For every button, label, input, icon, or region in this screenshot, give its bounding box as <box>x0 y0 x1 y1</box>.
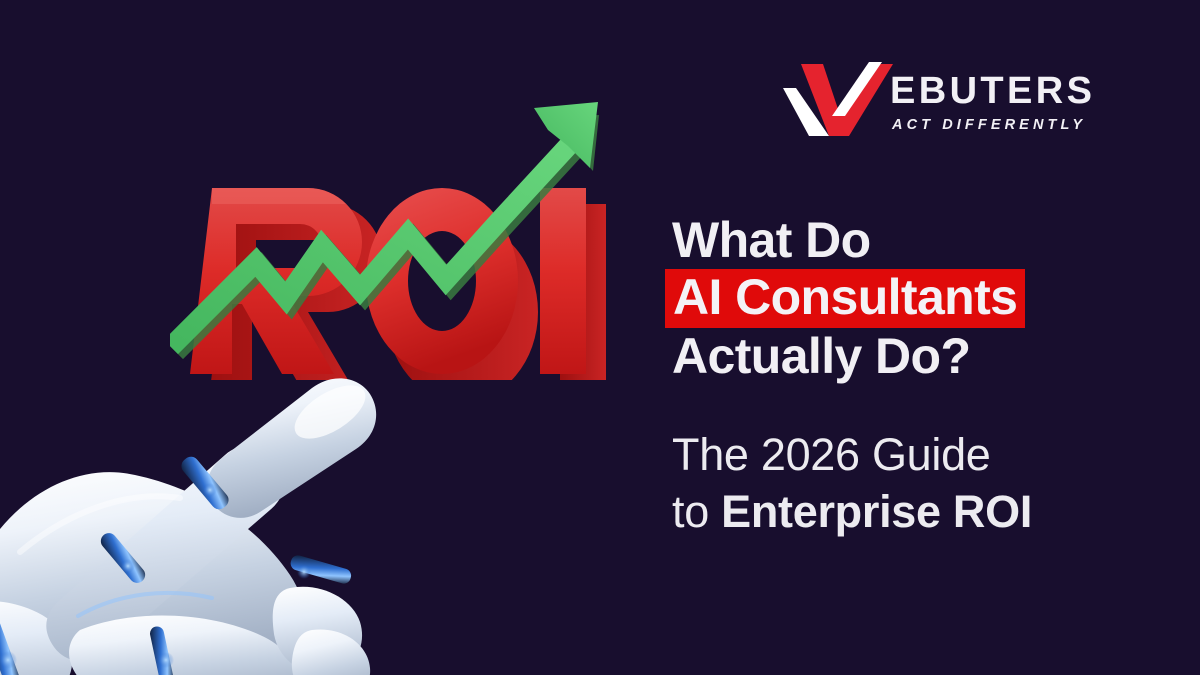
headline-line-2-wrapper: AI Consultants <box>672 269 1172 328</box>
subheadline-line-2-strong: Enterprise ROI <box>721 486 1032 537</box>
subheadline-line-2: to Enterprise ROI <box>672 483 1172 540</box>
headline-line-1: What Do <box>672 212 1172 269</box>
subheadline-line-2-prefix: to <box>672 486 721 537</box>
subheadline-line-1: The 2026 Guide <box>672 426 1172 483</box>
white-robotic-hand-pointing-icon <box>0 330 430 675</box>
logo-tagline: ACT DIFFERENTLY <box>892 115 1130 135</box>
headline-highlight: AI Consultants <box>665 269 1025 328</box>
brand-logo[interactable]: EBUTERS ACT DIFFERENTLY <box>783 55 1128 150</box>
promotional-banner: EBUTERS ACT DIFFERENTLY <box>0 0 1200 675</box>
ebuters-checkmark-logo-icon <box>783 60 895 145</box>
headline-block: What Do AI Consultants Actually Do? The … <box>672 212 1172 540</box>
logo-wordmark: EBUTERS ACT DIFFERENTLY <box>890 71 1130 141</box>
page-title: What Do AI Consultants Actually Do? <box>672 212 1172 385</box>
logo-company-name: EBUTERS <box>890 71 1130 111</box>
headline-line-3: Actually Do? <box>672 328 1172 385</box>
page-subtitle: The 2026 Guide to Enterprise ROI <box>672 426 1172 540</box>
